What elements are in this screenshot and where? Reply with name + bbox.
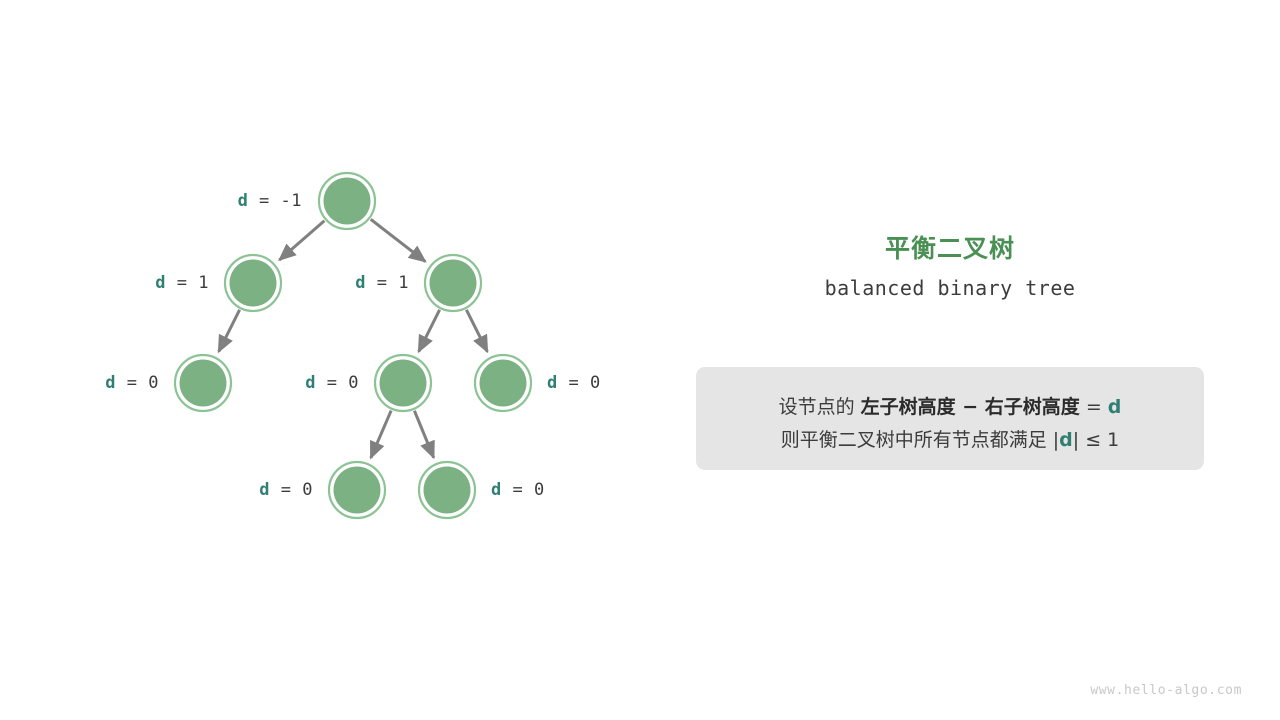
balance-factor-label: d = 1 — [355, 273, 409, 293]
tree-node-body — [324, 178, 371, 225]
page-subtitle: balanced binary tree — [694, 276, 1206, 300]
tree-node-body — [334, 467, 381, 514]
balance-factor-value: = 0 — [270, 480, 313, 500]
definition-line1-prefix: 设节点的 — [779, 396, 861, 418]
tree-node[interactable] — [475, 355, 531, 411]
tree-edge — [371, 219, 426, 261]
tree-node-body — [380, 360, 427, 407]
tree-node[interactable] — [375, 355, 431, 411]
balance-factor-variable: d — [547, 373, 558, 393]
definition-line-2: 则平衡二叉树中所有节点都满足 |d| ≤ 1 — [696, 425, 1204, 452]
diagram-page: d = -1d = 1d = 1d = 0d = 0d = 0d = 0d = … — [0, 0, 1280, 720]
balance-factor-variable: d — [155, 273, 166, 293]
tree-edge — [466, 310, 487, 352]
balance-factor-value: = 0 — [502, 480, 545, 500]
definition-line-1: 设节点的 左子树高度 − 右子树高度 = d — [696, 392, 1204, 419]
balance-factor-value: = 0 — [316, 373, 359, 393]
balance-factor-label: d = 0 — [305, 373, 359, 393]
tree-node-body — [424, 467, 471, 514]
tree-node[interactable] — [319, 173, 375, 229]
definition-line1-emphasis: 左子树高度 − 右子树高度 — [861, 396, 1080, 418]
tree-edge — [371, 411, 391, 458]
definition-line2-variable: d — [1059, 429, 1073, 451]
definition-box: 设节点的 左子树高度 − 右子树高度 = d 则平衡二叉树中所有节点都满足 |d… — [696, 367, 1204, 470]
balance-factor-variable: d — [105, 373, 116, 393]
balance-factor-variable: d — [355, 273, 366, 293]
tree-edge — [219, 310, 240, 352]
tree-graphics — [0, 0, 660, 720]
tree-nodes — [175, 173, 531, 518]
balance-factor-value: = 1 — [366, 273, 409, 293]
balance-factor-value: = 0 — [558, 373, 601, 393]
balance-factor-label: d = 0 — [105, 373, 159, 393]
balance-factor-label: d = 0 — [259, 480, 313, 500]
tree-edge — [279, 221, 324, 260]
balance-factor-variable: d — [491, 480, 502, 500]
definition-line2-suffix: ≤ 1 — [1079, 429, 1119, 451]
tree-node[interactable] — [225, 255, 281, 311]
page-title: 平衡二叉树 — [694, 229, 1206, 265]
tree-node[interactable] — [329, 462, 385, 518]
tree-node-body — [180, 360, 227, 407]
tree-node-body — [430, 260, 477, 307]
tree-diagram: d = -1d = 1d = 1d = 0d = 0d = 0d = 0d = … — [0, 0, 660, 720]
balance-factor-variable: d — [305, 373, 316, 393]
balance-factor-value: = -1 — [248, 191, 302, 211]
definition-line2-prefix: 则平衡二叉树中所有节点都满足 — [781, 429, 1053, 451]
balance-factor-value: = 0 — [116, 373, 159, 393]
balance-factor-label: d = 0 — [491, 480, 545, 500]
tree-node[interactable] — [425, 255, 481, 311]
tree-node[interactable] — [419, 462, 475, 518]
balance-factor-label: d = -1 — [238, 191, 302, 211]
balance-factor-value: = 1 — [166, 273, 209, 293]
tree-edge — [414, 411, 433, 458]
tree-edge — [419, 310, 440, 352]
tree-node[interactable] — [175, 355, 231, 411]
tree-node-body — [230, 260, 277, 307]
info-panel: 平衡二叉树 balanced binary tree 设节点的 左子树高度 − … — [694, 0, 1206, 720]
balance-factor-variable: d — [238, 191, 249, 211]
tree-node-body — [480, 360, 527, 407]
watermark: www.hello-algo.com — [1090, 683, 1242, 698]
balance-factor-variable: d — [259, 480, 270, 500]
definition-line1-equals: = — [1080, 396, 1108, 418]
balance-factor-label: d = 0 — [547, 373, 601, 393]
definition-line1-variable: d — [1108, 396, 1122, 418]
balance-factor-label: d = 1 — [155, 273, 209, 293]
